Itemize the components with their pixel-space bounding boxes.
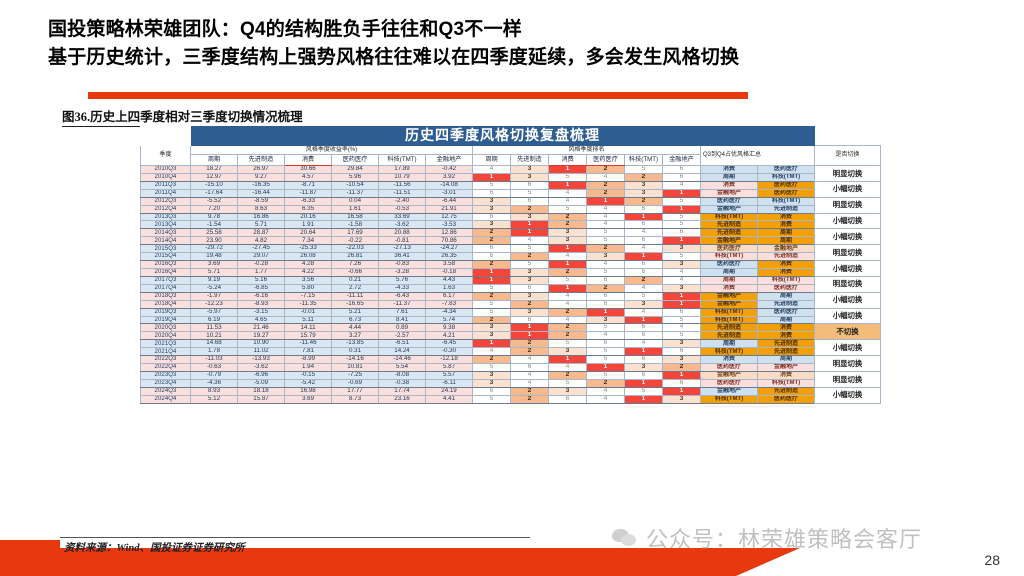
- cell-switch-status: 小幅切换: [815, 308, 881, 324]
- cell-rank-3: 4: [587, 395, 625, 403]
- col-header-quarter: 季度: [141, 146, 191, 166]
- cell-summary-q3: 金融地产: [701, 237, 758, 245]
- cell-rank-1: 3: [511, 292, 549, 300]
- cell-return-2: -25.33: [285, 245, 332, 253]
- group-header-switch: 是否切换: [815, 146, 881, 166]
- cell-return-0: -4.36: [191, 379, 238, 387]
- cell-summary-q3: 先进制造: [701, 221, 758, 229]
- cell-return-3: 17.77: [332, 387, 379, 395]
- cell-rank-4: 6: [625, 237, 663, 245]
- cell-rank-2: 4: [549, 364, 587, 372]
- cell-return-3: -16.65: [332, 300, 379, 308]
- cell-rank-1: 6: [511, 316, 549, 324]
- cell-rank-2: 2: [549, 371, 587, 379]
- cell-rank-3: 5: [587, 356, 625, 364]
- cell-rank-3: 5: [587, 268, 625, 276]
- cell-quarter: 2011Q3: [141, 181, 191, 189]
- cell-return-2: -11.46: [285, 340, 332, 348]
- cell-rank-1: 5: [511, 261, 549, 269]
- cell-quarter: 2015Q4: [141, 253, 191, 261]
- cell-summary-q3: 科技(TMT): [701, 213, 758, 221]
- table-row: 2021Q314.6810.90-11.46-13.85-6.51-6.4512…: [141, 340, 881, 348]
- cell-return-0: 11.53: [191, 324, 238, 332]
- cell-return-1: -16.44: [238, 189, 285, 197]
- cell-return-3: -7.25: [332, 371, 379, 379]
- cell-return-4: -4.33: [379, 284, 426, 292]
- cell-return-5: 12.86: [426, 229, 473, 237]
- cell-return-1: 4.82: [238, 237, 285, 245]
- cell-rank-5: 3: [663, 245, 701, 253]
- cell-return-3: -22.03: [332, 245, 379, 253]
- cell-return-2: 4.57: [285, 173, 332, 181]
- cell-rank-4: 3: [625, 181, 663, 189]
- col-header-rank-4: 科技(TMT): [625, 155, 663, 166]
- cell-rank-0: 3: [473, 205, 511, 213]
- cell-summary-q4: 科技(TMT): [758, 173, 815, 181]
- cell-summary-q3: 先进制造: [701, 332, 758, 340]
- cell-rank-3: 5: [587, 371, 625, 379]
- cell-return-3: 26.81: [332, 253, 379, 261]
- cell-rank-0: 3: [473, 324, 511, 332]
- cell-return-2: -0.15: [285, 371, 332, 379]
- cell-summary-q3: 科技(TMT): [701, 348, 758, 356]
- cell-rank-2: 4: [549, 253, 587, 261]
- cell-rank-1: 3: [511, 213, 549, 221]
- cell-switch-status: 明显切换: [815, 371, 881, 387]
- cell-rank-2: 5: [549, 276, 587, 284]
- table-row: 2024Q45.1215.873.698.7323.164.41526413科技…: [141, 395, 881, 403]
- cell-switch-status: 小幅切换: [815, 292, 881, 308]
- cell-return-5: -6.44: [426, 197, 473, 205]
- cell-rank-1: 1: [511, 229, 549, 237]
- cell-return-4: -0.81: [379, 237, 426, 245]
- cell-rank-1: 6: [511, 197, 549, 205]
- cell-rank-1: 5: [511, 245, 549, 253]
- cell-summary-q4: 医药医疗: [758, 166, 815, 174]
- cell-quarter: 2021Q4: [141, 348, 191, 356]
- cell-return-3: 2.72: [332, 284, 379, 292]
- cell-return-1: 4.65: [238, 316, 285, 324]
- cell-rank-3: 1: [587, 364, 625, 372]
- cell-quarter: 2021Q3: [141, 340, 191, 348]
- cell-return-1: 21.46: [238, 324, 285, 332]
- cell-summary-q4: 医药医疗: [758, 308, 815, 316]
- col-header-return-3: 医药医疗: [332, 155, 379, 166]
- cell-rank-5: 6: [663, 166, 701, 174]
- cell-return-1: 19.27: [238, 332, 285, 340]
- cell-return-4: -2.40: [379, 197, 426, 205]
- cell-return-4: 36.41: [379, 253, 426, 261]
- cell-return-4: -3.28: [379, 268, 426, 276]
- cell-quarter: 2017Q3: [141, 276, 191, 284]
- cell-rank-2: 2: [549, 213, 587, 221]
- cell-rank-5: 6: [663, 308, 701, 316]
- table-row: 2019Q3-5.97-3.15-0.015.217.61-4.34532146…: [141, 308, 881, 316]
- cell-rank-3: 4: [587, 261, 625, 269]
- cell-rank-2: 1: [549, 181, 587, 189]
- cell-summary-q4: 周期: [758, 316, 815, 324]
- table-row: 2015Q3-29.72-27.45-25.33-22.03-27.13-24.…: [141, 245, 881, 253]
- cell-return-1: 1.77: [238, 268, 285, 276]
- cell-return-2: 1.91: [285, 221, 332, 229]
- cell-rank-0: 6: [473, 387, 511, 395]
- cell-return-2: 20.16: [285, 213, 332, 221]
- cell-quarter: 2015Q3: [141, 245, 191, 253]
- cell-summary-q4: 周期: [758, 356, 815, 364]
- table-row: 2010Q318.2726.9730.6629.8417.89-0.424312…: [141, 166, 881, 174]
- cell-return-4: -8.08: [379, 371, 426, 379]
- cell-summary-q3: 先进制造: [701, 229, 758, 237]
- cell-return-1: 18.18: [238, 387, 285, 395]
- cell-rank-2: 2: [549, 268, 587, 276]
- cell-rank-4: 6: [625, 205, 663, 213]
- table-row: 2019Q46.194.655.116.738.415.74264315科技(T…: [141, 316, 881, 324]
- table-row: 2015Q419.4829.0726.0826.8136.4126.356243…: [141, 253, 881, 261]
- col-header-rank-0: 周期: [473, 155, 511, 166]
- cell-return-0: 9.19: [191, 276, 238, 284]
- cell-return-4: 0.89: [379, 324, 426, 332]
- cell-return-5: -3.01: [426, 189, 473, 197]
- cell-return-0: -17.64: [191, 189, 238, 197]
- cell-return-5: -6.11: [426, 379, 473, 387]
- cell-rank-0: 4: [473, 348, 511, 356]
- cell-rank-4: 1: [625, 213, 663, 221]
- cell-rank-3: 3: [587, 253, 625, 261]
- cell-rank-2: 1: [549, 284, 587, 292]
- cell-rank-5: 1: [663, 189, 701, 197]
- cell-rank-4: 6: [625, 324, 663, 332]
- cell-return-4: 20.88: [379, 229, 426, 237]
- table-row: 2016Q45.711.774.22-0.66-3.28-0.18132564周…: [141, 268, 881, 276]
- cell-return-3: 5.21: [332, 308, 379, 316]
- cell-rank-2: 4: [549, 189, 587, 197]
- cell-rank-3: 4: [587, 205, 625, 213]
- cell-return-5: -0.18: [426, 268, 473, 276]
- cell-summary-q4: 先进制造: [758, 253, 815, 261]
- cell-rank-4: 4: [625, 340, 663, 348]
- cell-rank-2: 3: [549, 387, 587, 395]
- cell-switch-status: 小幅切换: [815, 181, 881, 197]
- cell-rank-0: 2: [473, 356, 511, 364]
- cell-rank-4: 3: [625, 189, 663, 197]
- cell-summary-q4: 金融地产: [758, 364, 815, 372]
- cell-switch-status: 小幅切换: [815, 387, 881, 403]
- cell-return-4: 17.89: [379, 166, 426, 174]
- cell-return-4: 8.41: [379, 316, 426, 324]
- table-row: 2011Q4-17.64-16.44-11.87-11.37-11.51-3.0…: [141, 189, 881, 197]
- cell-rank-2: 1: [549, 261, 587, 269]
- cell-rank-0: 6: [473, 189, 511, 197]
- cell-rank-5: 3: [663, 395, 701, 403]
- table-row: 2024Q38.9318.1816.9817.7717.7424.1962345…: [141, 387, 881, 395]
- cell-return-4: 10.79: [379, 173, 426, 181]
- cell-rank-1: 4: [511, 356, 549, 364]
- cell-summary-q3: 金融地产: [701, 292, 758, 300]
- cell-return-2: 14.11: [285, 324, 332, 332]
- cell-return-4: -2.57: [379, 332, 426, 340]
- cell-switch-status: 小幅切换: [815, 229, 881, 245]
- table-row: 2012Q47.208.636.351.61-0.5321.91325461金融…: [141, 205, 881, 213]
- table-row: 2018Q3-1.97-6.16-7.15-11.11-6.436.172346…: [141, 292, 881, 300]
- cell-rank-0: 1: [473, 276, 511, 284]
- cell-rank-3: 2: [587, 189, 625, 197]
- cell-rank-5: 3: [663, 284, 701, 292]
- table-row: 2014Q325.5828.8720.6417.6920.8812.862135…: [141, 229, 881, 237]
- cell-return-5: -24.27: [426, 245, 473, 253]
- cell-return-3: -11.37: [332, 189, 379, 197]
- cell-quarter: 2016Q3: [141, 261, 191, 269]
- cell-return-0: -5.52: [191, 197, 238, 205]
- cell-return-3: -0.22: [332, 237, 379, 245]
- cell-summary-q3: 周期: [701, 268, 758, 276]
- cell-return-1: -8.93: [238, 300, 285, 308]
- cell-return-0: 10.21: [191, 332, 238, 340]
- table-row: 2023Q3-0.79-6.96-0.15-7.25-8.085.5734256…: [141, 371, 881, 379]
- cell-return-5: 4.43: [426, 276, 473, 284]
- cell-rank-2: 6: [549, 395, 587, 403]
- cell-rank-5: 1: [663, 292, 701, 300]
- source-divider: [60, 537, 530, 538]
- cell-rank-5: 6: [663, 173, 701, 181]
- table-row: 2022Q3-11.03-13.93-8.99-14.16-14.46-12.1…: [141, 356, 881, 364]
- cell-quarter: 2013Q3: [141, 213, 191, 221]
- cell-rank-1: 2: [511, 395, 549, 403]
- cell-rank-0: 3: [473, 379, 511, 387]
- cell-rank-4: 1: [625, 348, 663, 356]
- cell-return-1: 8.63: [238, 205, 285, 213]
- cell-rank-1: 2: [511, 340, 549, 348]
- cell-return-1: 15.87: [238, 395, 285, 403]
- cell-summary-q3: 周期: [701, 173, 758, 181]
- cell-switch-status: 明显切换: [815, 166, 881, 182]
- cell-rank-2: 1: [549, 356, 587, 364]
- cell-rank-0: 1: [473, 173, 511, 181]
- cell-quarter: 2020Q3: [141, 324, 191, 332]
- cell-return-2: 4.22: [285, 268, 332, 276]
- cell-rank-1: 4: [511, 379, 549, 387]
- cell-rank-4: 4: [625, 284, 663, 292]
- cell-summary-q3: 科技(TMT): [701, 308, 758, 316]
- cell-rank-1: 3: [511, 276, 549, 284]
- cell-rank-4: 6: [625, 221, 663, 229]
- cell-rank-3: 6: [587, 276, 625, 284]
- cell-summary-q4: 周期: [758, 237, 815, 245]
- cell-return-5: 9.38: [426, 324, 473, 332]
- cell-summary-q4: 先进制造: [758, 340, 815, 348]
- cell-rank-0: 6: [473, 213, 511, 221]
- cell-rank-4: 2: [625, 197, 663, 205]
- cell-return-2: 30.66: [285, 166, 332, 174]
- cell-return-5: -0.42: [426, 166, 473, 174]
- cell-quarter: 2011Q4: [141, 189, 191, 197]
- cell-summary-q3: 先进制造: [701, 324, 758, 332]
- col-header-return-5: 金融地产: [426, 155, 473, 166]
- cell-return-5: 5.74: [426, 316, 473, 324]
- cell-rank-3: 6: [587, 292, 625, 300]
- cell-rank-3: 4: [587, 173, 625, 181]
- cell-rank-5: 5: [663, 316, 701, 324]
- cell-rank-2: 1: [549, 166, 587, 174]
- cell-quarter: 2019Q4: [141, 316, 191, 324]
- cell-rank-0: 2: [473, 316, 511, 324]
- cell-quarter: 2019Q3: [141, 308, 191, 316]
- cell-return-4: 33.69: [379, 213, 426, 221]
- cell-rank-4: 2: [625, 276, 663, 284]
- cell-return-5: -6.45: [426, 340, 473, 348]
- cell-rank-3: 3: [587, 316, 625, 324]
- cell-return-5: 26.35: [426, 253, 473, 261]
- cell-rank-1: 2: [511, 205, 549, 213]
- cell-rank-4: 1: [625, 253, 663, 261]
- cell-rank-3: 2: [587, 181, 625, 189]
- cell-rank-2: 5: [549, 379, 587, 387]
- cell-return-3: 6.73: [332, 316, 379, 324]
- cell-summary-q3: 科技(TMT): [701, 316, 758, 324]
- cell-return-5: 4.41: [426, 395, 473, 403]
- cell-rank-1: 4: [511, 371, 549, 379]
- cell-summary-q4: 科技(TMT): [758, 197, 815, 205]
- cell-rank-3: 4: [587, 213, 625, 221]
- headline-line-2: 基于历史统计，三季度结构上强势风格往往难以在四季度延续，多会发生风格切换: [48, 44, 998, 72]
- cell-return-4: -27.13: [379, 245, 426, 253]
- cell-rank-4: 5: [625, 166, 663, 174]
- cell-rank-0: 4: [473, 166, 511, 174]
- cell-return-5: -0.30: [426, 348, 473, 356]
- cell-rank-4: 4: [625, 245, 663, 253]
- cell-rank-4: 3: [625, 364, 663, 372]
- table-head: 历史四季度风格切换复盘梳理 季度 风格季度收益率(%) 风格季度排名 Q3到Q4…: [141, 127, 881, 166]
- cell-return-0: -5.97: [191, 308, 238, 316]
- cell-rank-0: 2: [473, 292, 511, 300]
- cell-return-0: -0.79: [191, 371, 238, 379]
- cell-rank-5: 5: [663, 253, 701, 261]
- cell-rank-2: 4: [549, 300, 587, 308]
- cell-rank-5: 6: [663, 379, 701, 387]
- cell-return-1: 11.02: [238, 348, 285, 356]
- cell-summary-q4: 消费: [758, 371, 815, 379]
- cell-rank-3: 5: [587, 348, 625, 356]
- cell-return-1: 28.87: [238, 229, 285, 237]
- cell-return-3: -1.58: [332, 221, 379, 229]
- cell-rank-0: 3: [473, 371, 511, 379]
- cell-return-0: 5.71: [191, 268, 238, 276]
- cell-return-4: 5.76: [379, 276, 426, 284]
- table-row: 2016Q33.69-0.284.287.26-0.833.58251463医药…: [141, 261, 881, 269]
- table-banner-title: 历史四季度风格切换复盘梳理: [191, 127, 815, 146]
- col-header-return-2: 消费: [285, 155, 332, 166]
- cell-rank-4: 1: [625, 395, 663, 403]
- page-number: 28: [984, 552, 1000, 568]
- cell-summary-q4: 先进制造: [758, 348, 815, 356]
- cell-rank-3: 5: [587, 324, 625, 332]
- cell-return-2: 3.56: [285, 276, 332, 284]
- col-header-return-0: 周期: [191, 155, 238, 166]
- cell-quarter: 2010Q4: [141, 173, 191, 181]
- cell-summary-q4: 消费: [758, 213, 815, 221]
- cell-rank-3: 4: [587, 221, 625, 229]
- cell-rank-0: 1: [473, 268, 511, 276]
- col-header-return-4: 科技(TMT): [379, 155, 426, 166]
- cell-return-5: 5.87: [426, 364, 473, 372]
- cell-summary-q4: 先进制造: [758, 300, 815, 308]
- cell-return-1: -6.96: [238, 371, 285, 379]
- cell-rank-5: 4: [663, 276, 701, 284]
- cell-rank-4: 4: [625, 308, 663, 316]
- cell-rank-1: 3: [511, 308, 549, 316]
- table-row: 2020Q410.2119.2715.793.27-2.574.21312465…: [141, 332, 881, 340]
- cell-quarter: 2012Q4: [141, 205, 191, 213]
- cell-rank-2: 5: [549, 173, 587, 181]
- cell-rank-2: 1: [549, 245, 587, 253]
- cell-quarter: 2024Q3: [141, 387, 191, 395]
- cell-return-2: 4.28: [285, 261, 332, 269]
- cell-quarter: 2022Q4: [141, 364, 191, 372]
- cell-return-5: 24.19: [426, 387, 473, 395]
- cell-rank-5: 6: [663, 348, 701, 356]
- cell-return-4: -6.51: [379, 340, 426, 348]
- cell-rank-1: 1: [511, 324, 549, 332]
- cell-summary-q3: 医药医疗: [701, 364, 758, 372]
- cell-rank-1: 2: [511, 387, 549, 395]
- cell-rank-3: 1: [587, 308, 625, 316]
- cell-return-2: -7.15: [285, 292, 332, 300]
- cell-rank-2: 3: [549, 348, 587, 356]
- cell-return-5: 1.63: [426, 284, 473, 292]
- cell-return-4: 17.74: [379, 387, 426, 395]
- cell-return-1: 10.90: [238, 340, 285, 348]
- cell-return-4: -3.62: [379, 221, 426, 229]
- cell-rank-2: 5: [549, 205, 587, 213]
- cell-rank-0: 3: [473, 197, 511, 205]
- cell-switch-status: 小幅切换: [815, 213, 881, 229]
- cell-return-5: 4.21: [426, 332, 473, 340]
- cell-return-0: 6.19: [191, 316, 238, 324]
- cell-return-4: 7.61: [379, 308, 426, 316]
- cell-rank-4: 5: [625, 292, 663, 300]
- cell-return-2: -5.42: [285, 379, 332, 387]
- cell-summary-q4: 消费: [758, 332, 815, 340]
- cell-rank-4: 2: [625, 173, 663, 181]
- cell-return-4: -6.43: [379, 292, 426, 300]
- cell-summary-q3: 金融地产: [701, 189, 758, 197]
- cell-summary-q4: 金融地产: [758, 245, 815, 253]
- cell-return-1: -6.16: [238, 292, 285, 300]
- cell-return-1: -13.93: [238, 356, 285, 364]
- cell-rank-4: 5: [625, 387, 663, 395]
- table-row: 2018Q4-12.23-8.93-11.35-16.65-11.37-7.83…: [141, 300, 881, 308]
- cell-rank-1: 6: [511, 181, 549, 189]
- cell-return-2: -8.71: [285, 181, 332, 189]
- cell-switch-status: 明显切换: [815, 197, 881, 213]
- cell-quarter: 2013Q4: [141, 221, 191, 229]
- cell-quarter: 2016Q4: [141, 268, 191, 276]
- cell-return-2: 20.64: [285, 229, 332, 237]
- cell-return-4: -0.83: [379, 261, 426, 269]
- cell-rank-4: 6: [625, 332, 663, 340]
- cell-return-2: -8.99: [285, 356, 332, 364]
- cell-rank-5: 3: [663, 340, 701, 348]
- cell-rank-5: 1: [663, 205, 701, 213]
- cell-quarter: 2018Q3: [141, 292, 191, 300]
- cell-quarter: 2014Q4: [141, 237, 191, 245]
- table-row: 2017Q39.195.163.560.215.764.43135624周期科技…: [141, 276, 881, 284]
- cell-summary-q3: 金融地产: [701, 300, 758, 308]
- accent-band-left: [0, 540, 60, 576]
- cell-rank-1: 1: [511, 332, 549, 340]
- table-row: 2013Q4-1.545.711.91-1.58-3.62-3.53312465…: [141, 221, 881, 229]
- cell-return-2: 15.79: [285, 332, 332, 340]
- cell-summary-q4: 医药医疗: [758, 181, 815, 189]
